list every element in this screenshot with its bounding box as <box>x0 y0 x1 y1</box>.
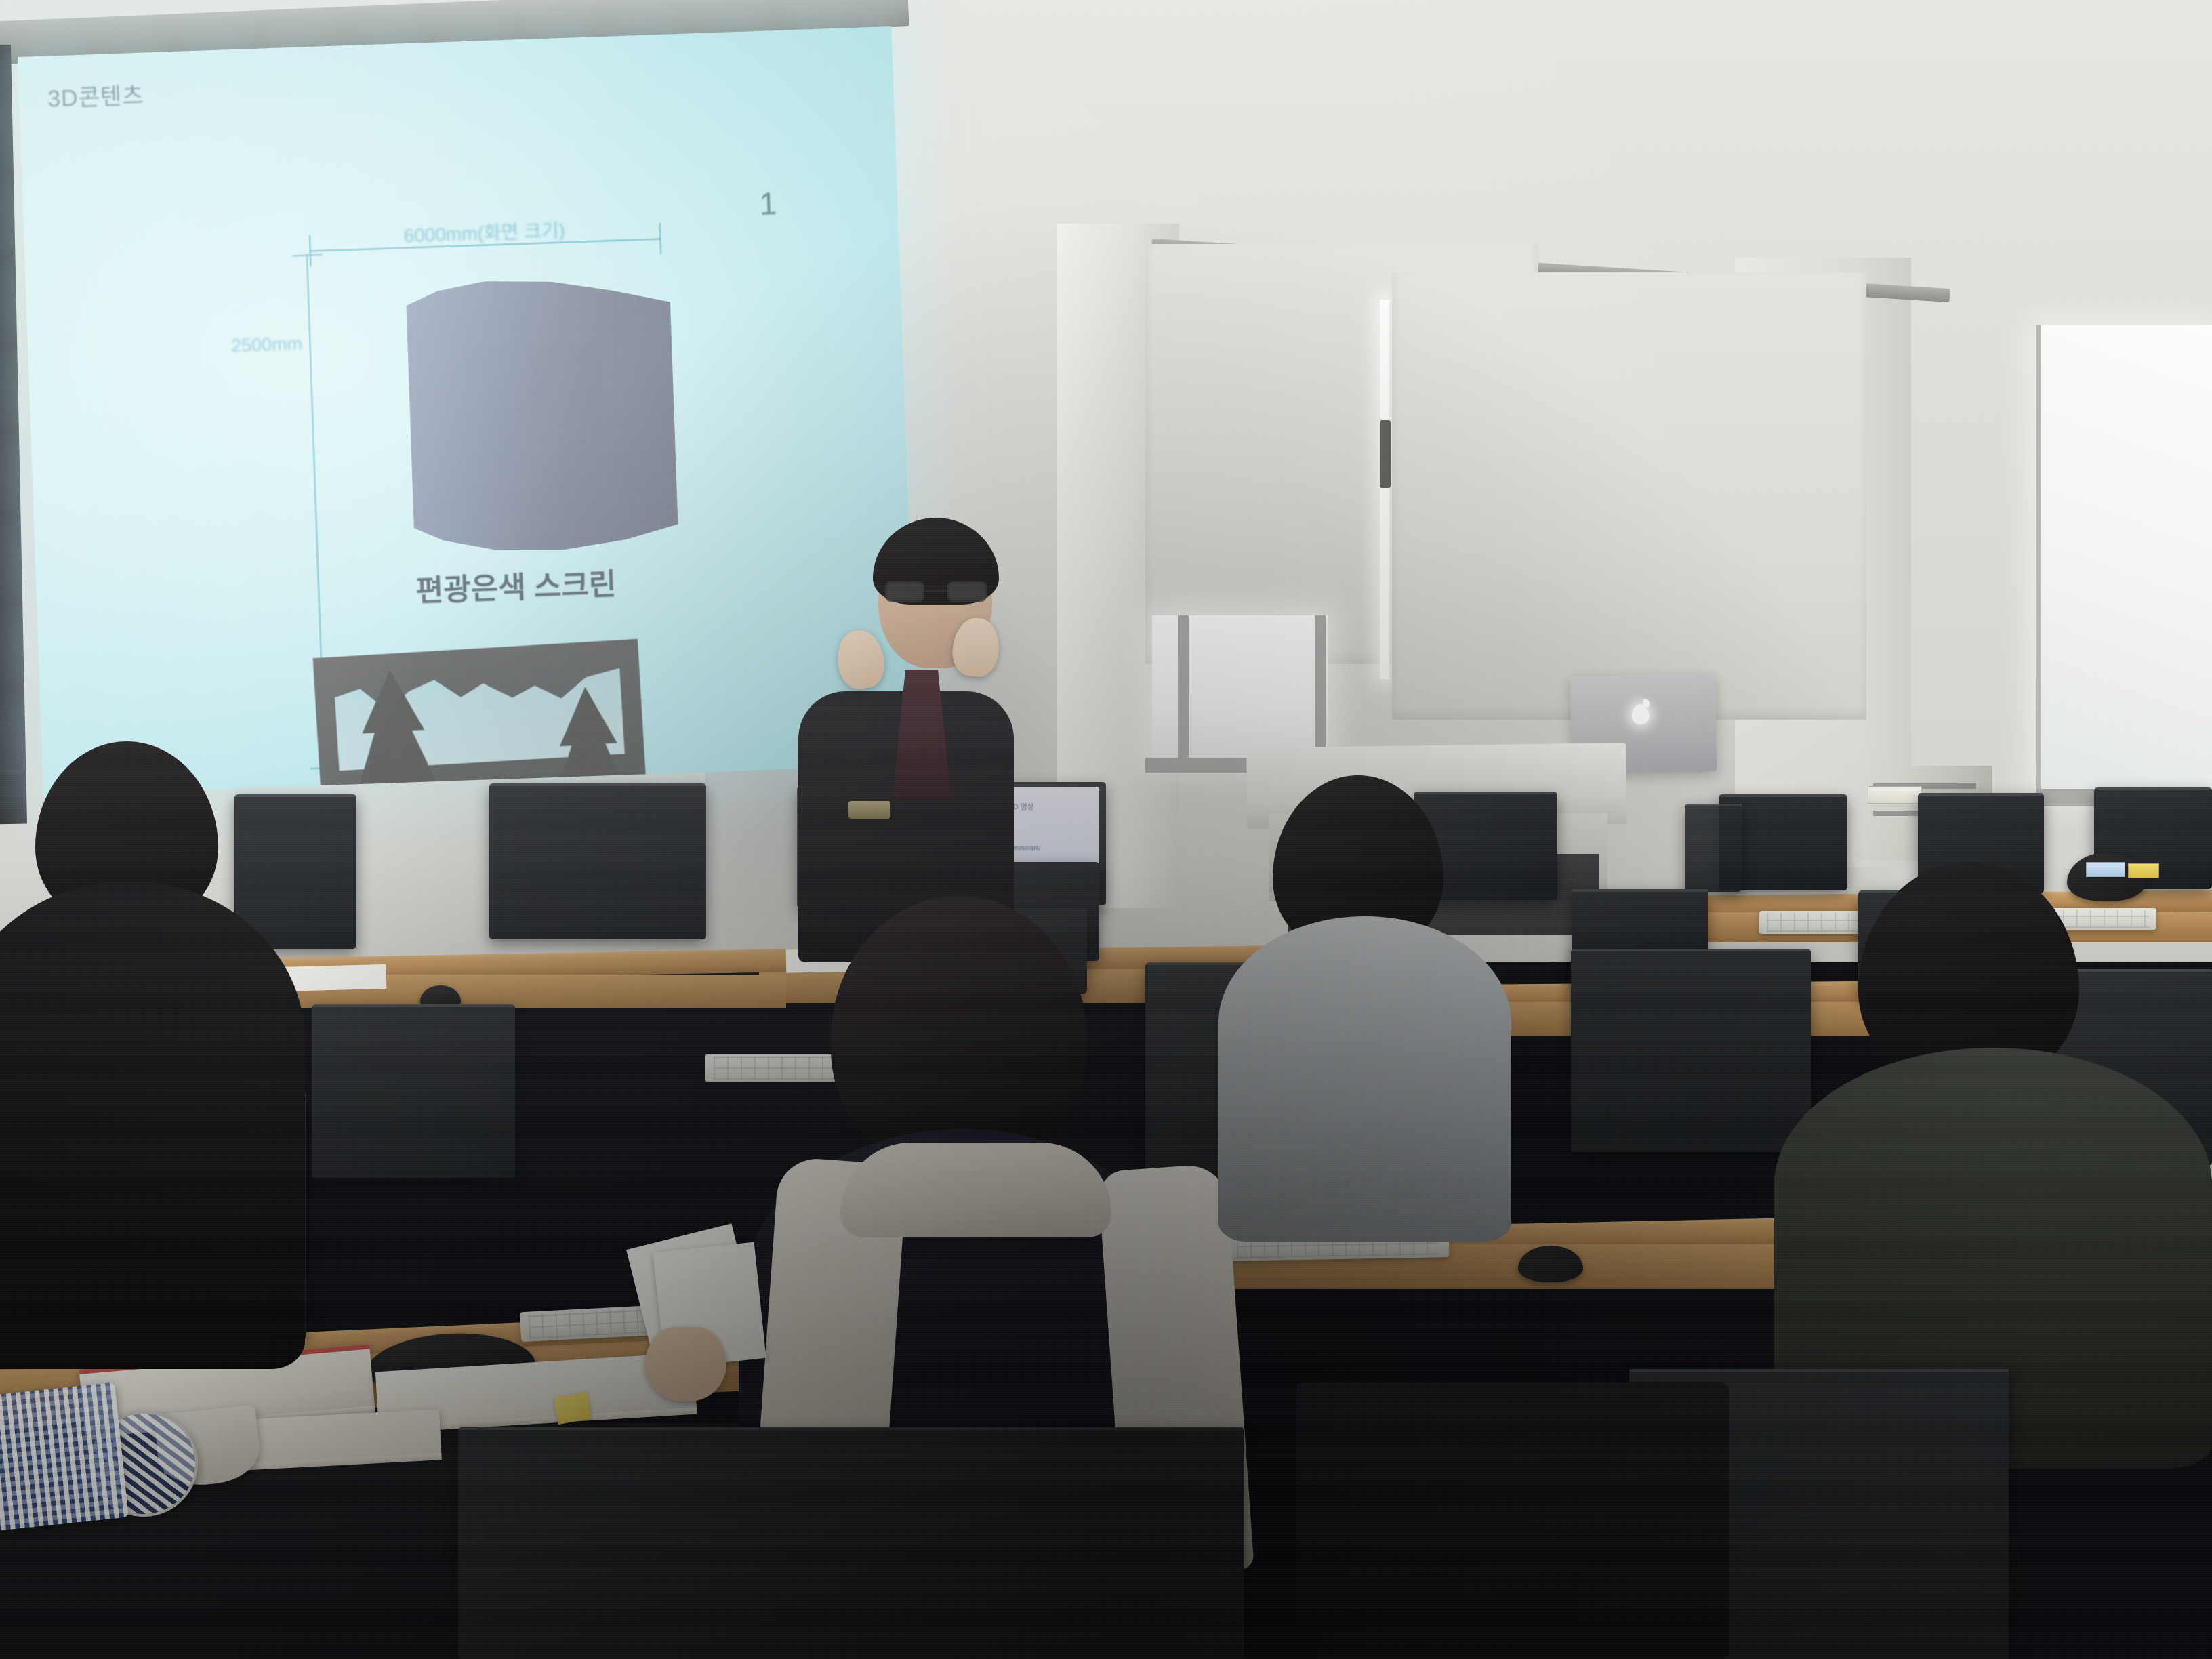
curved-polarized-screen-graphic <box>405 275 679 555</box>
scarf-collar <box>840 1143 1111 1237</box>
monitor[interactable] <box>489 783 706 939</box>
slide-page-number: 1 <box>759 185 777 222</box>
monitor-sticker <box>2128 863 2159 878</box>
classroom-photo: 3D콘텐츠 1 6000mm(화면 크기) 2500mm 편광은색 스크린 편광… <box>0 0 2212 1659</box>
forest-road-stereo-photo <box>313 639 650 796</box>
monitor-sticker <box>2086 862 2125 877</box>
student-left-front-body <box>0 881 305 1369</box>
window-right <box>2036 325 2212 800</box>
student-middle-gray-body <box>1218 916 1511 1242</box>
blind-light-gap <box>1380 300 1389 679</box>
monitor[interactable] <box>458 1427 1244 1659</box>
blind-pull-handle[interactable] <box>1380 420 1391 488</box>
dimension-width-label: 6000mm(화면 크기) <box>403 216 566 248</box>
window-mullion <box>1315 615 1326 767</box>
slide-caption-screen: 편광은색 스크린 <box>415 560 617 610</box>
apple-logo-icon <box>1631 703 1650 724</box>
presenter-glasses-icon <box>885 581 987 602</box>
sticky-note <box>554 1392 592 1425</box>
hand <box>645 1327 726 1401</box>
projection-screen: 3D콘텐츠 1 6000mm(화면 크기) 2500mm 편광은색 스크린 편광… <box>18 26 917 795</box>
monitor[interactable] <box>1571 949 1811 1152</box>
presenter-belt <box>848 801 890 819</box>
slide-title: 3D콘텐츠 <box>47 77 144 114</box>
checkered-tin-cylinder <box>0 1382 129 1532</box>
dimension-height-label: 2500mm <box>231 333 303 357</box>
monitor[interactable] <box>312 1004 515 1178</box>
monitor[interactable] <box>1685 804 1742 892</box>
window-mullion <box>1178 615 1189 764</box>
chair-back <box>1296 1382 1729 1659</box>
roller-blind-right <box>1392 272 1866 720</box>
monitor[interactable] <box>234 794 356 949</box>
equipment-label <box>1868 786 1922 804</box>
